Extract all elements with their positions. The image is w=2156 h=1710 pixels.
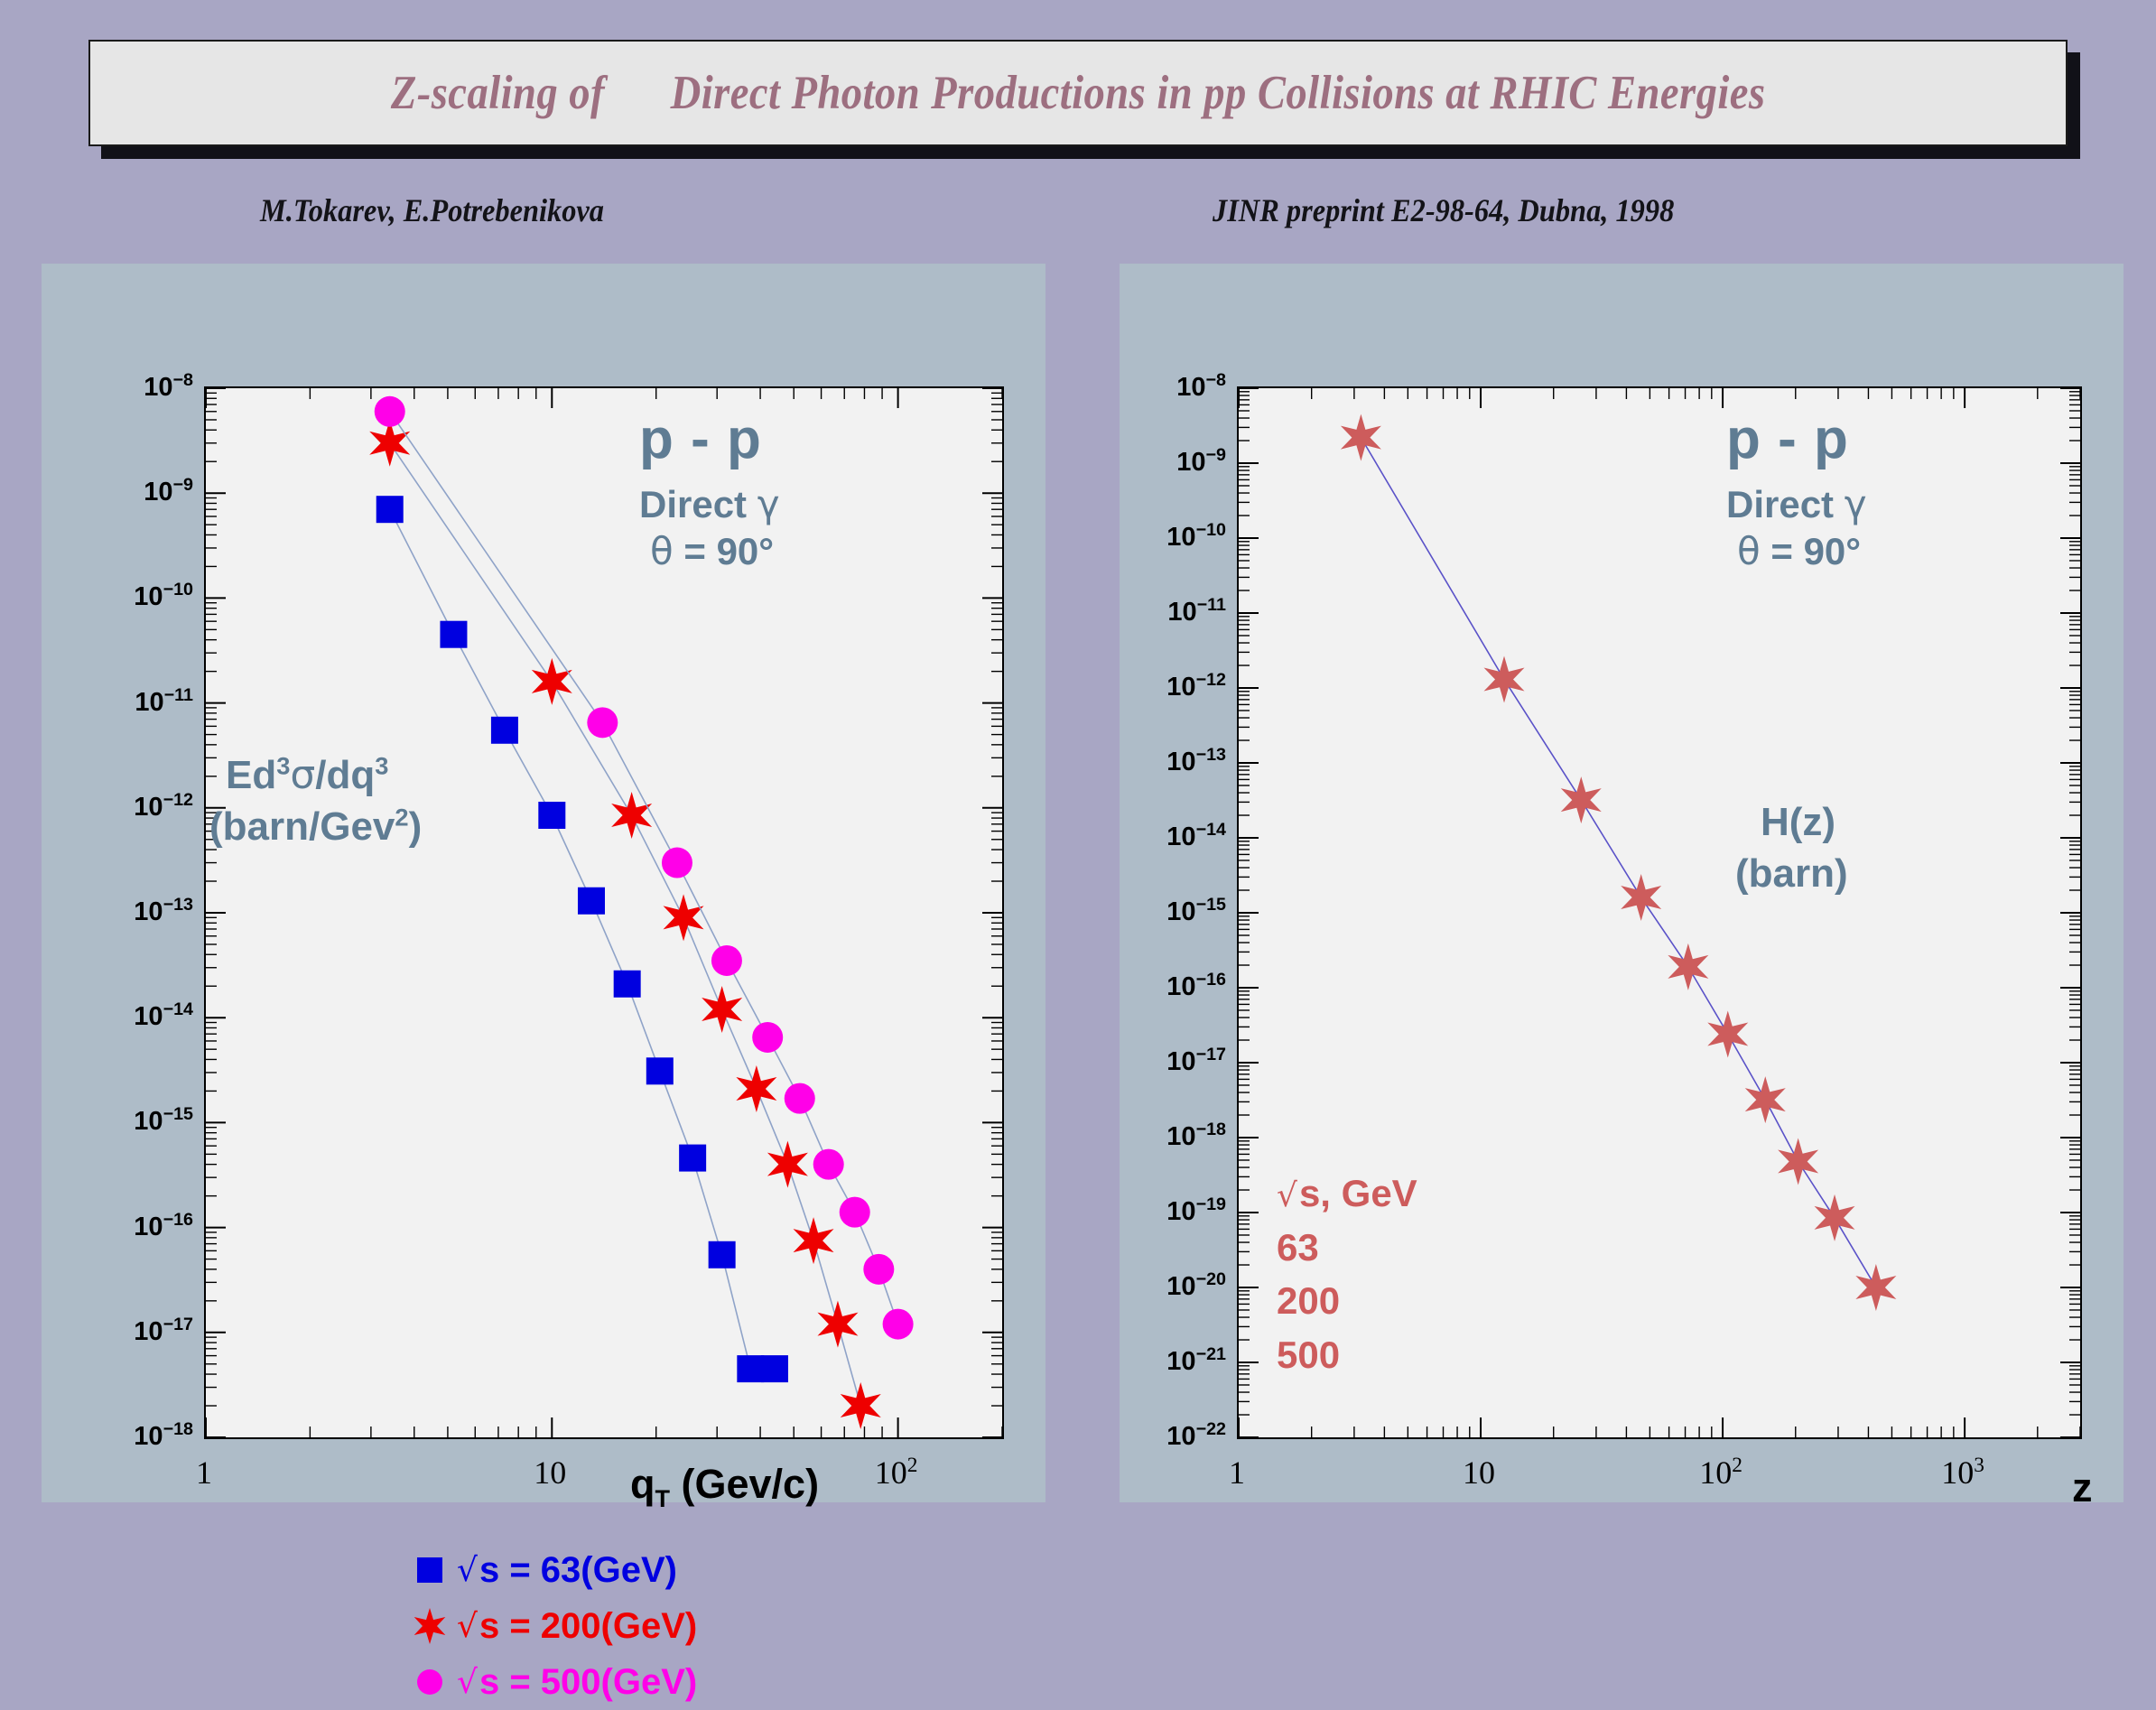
- preprint-reference: JINR preprint E2-98-64, Dubna, 1998: [1213, 191, 1674, 229]
- y-tick-label: 10−18: [1100, 1120, 1226, 1152]
- legend-label: s = 200(GeV): [479, 1606, 697, 1647]
- sqrt-symbol: √: [457, 1664, 478, 1701]
- page-title: Z-scaling of Direct Photon Productions i…: [391, 66, 1766, 120]
- right-x-axis-title: z: [2072, 1464, 2093, 1511]
- y-tick-label: 10−9: [67, 475, 193, 507]
- y-tick-label: 10−22: [1100, 1419, 1226, 1452]
- y-tick-label: 10−10: [67, 581, 193, 613]
- legend-row: √s = 200(GeV): [403, 1598, 697, 1654]
- right-angle-value: = 90°: [1761, 530, 1861, 572]
- star-glyph: [411, 1607, 449, 1645]
- xat-sub: T: [655, 1485, 671, 1512]
- sqrt-symbol: √: [1277, 1177, 1297, 1214]
- left-annotation-angle: θ = 90°: [650, 530, 774, 572]
- sqrt-symbol: √: [457, 1552, 478, 1589]
- y-tick-label: 10−14: [67, 999, 193, 1032]
- right-photon-symbol: γ: [1845, 482, 1867, 526]
- y-tick-label: 10−21: [1100, 1344, 1226, 1377]
- y-tick-label: 10−20: [1100, 1269, 1226, 1302]
- x-tick-label: 102: [875, 1454, 918, 1492]
- y-tick-label: 10−11: [67, 685, 193, 718]
- right-quantity-line2: (barn): [1735, 848, 1848, 899]
- left-angle-value: = 90°: [674, 530, 774, 572]
- x-tick-label: 102: [1699, 1454, 1742, 1492]
- q1a: Ed: [226, 753, 276, 797]
- x-tick-label: 10: [534, 1454, 566, 1492]
- right-annotation-process: Direct γ: [1726, 483, 1867, 525]
- left-annotation-process-text: Direct: [639, 483, 747, 525]
- y-tick-label: 10−8: [1100, 370, 1226, 403]
- x-tick-label: 1: [196, 1454, 212, 1492]
- q1b: /dq: [315, 753, 375, 797]
- star-marker: [403, 1607, 457, 1645]
- x-tick-label: 10: [1463, 1454, 1495, 1492]
- legend-row: √s = 63(GeV): [403, 1542, 697, 1598]
- right-plot-panel: p - p Direct γ θ = 90° H(z) (barn) √s, G…: [1120, 264, 2123, 1502]
- y-tick-label: 10−16: [67, 1210, 193, 1242]
- y-tick-label: 10−12: [1100, 670, 1226, 702]
- energy-header-text: s, GeV: [1299, 1172, 1417, 1214]
- y-tick-label: 10−12: [67, 790, 193, 822]
- y-tick-label: 10−16: [1100, 970, 1226, 1002]
- right-process-text: Direct: [1726, 483, 1834, 525]
- xat-rest: (Gev/c): [670, 1461, 819, 1507]
- energy-value-63: 63: [1277, 1221, 1417, 1275]
- sqrt-symbol: √: [457, 1608, 478, 1645]
- energy-header: √s, GeV: [1277, 1166, 1417, 1221]
- left-plot-canvas: [206, 388, 1002, 1437]
- right-annotation-angle: θ = 90°: [1737, 530, 1861, 572]
- legend-label: s = 63(GeV): [479, 1550, 677, 1591]
- q1s2: 3: [375, 751, 388, 779]
- y-tick-label: 10−18: [67, 1419, 193, 1452]
- energy-value-200: 200: [1277, 1274, 1417, 1328]
- y-tick-label: 10−13: [1100, 745, 1226, 777]
- q2b: ): [409, 804, 423, 849]
- y-tick-label: 10−13: [67, 895, 193, 927]
- y-tick-label: 10−11: [1100, 595, 1226, 627]
- y-tick-label: 10−14: [1100, 820, 1226, 852]
- y-tick-label: 10−17: [1100, 1045, 1226, 1077]
- q2s: 2: [395, 804, 408, 832]
- right-energy-list: √s, GeV 63 200 500: [1277, 1166, 1417, 1382]
- authors-line: M.Tokarev, E.Potrebenikova: [260, 191, 604, 229]
- y-tick-label: 10−15: [67, 1105, 193, 1138]
- left-quantity-label: Ed3σ/dq3 (barn/Gev2): [226, 749, 422, 852]
- y-tick-label: 10−10: [1100, 520, 1226, 553]
- legend-row: √s = 500(GeV): [403, 1654, 697, 1710]
- theta-symbol: θ: [650, 529, 674, 573]
- photon-symbol: γ: [757, 482, 780, 526]
- y-tick-label: 10−9: [1100, 445, 1226, 478]
- q2a: (barn/Gev: [209, 804, 395, 849]
- right-theta-symbol: θ: [1737, 529, 1761, 573]
- left-annotation-process: Direct γ: [639, 483, 780, 525]
- left-plot-frame: p - p Direct γ θ = 90° Ed3σ/dq3 (barn/Ge…: [204, 386, 1004, 1439]
- square-marker: [403, 1557, 457, 1583]
- y-tick-label: 10−8: [67, 370, 193, 403]
- y-tick-label: 10−15: [1100, 895, 1226, 927]
- y-tick-label: 10−19: [1100, 1194, 1226, 1227]
- legend-label: s = 500(GeV): [479, 1662, 697, 1703]
- left-quantity-line1: Ed3σ/dq3: [226, 749, 422, 801]
- x-tick-label: 1: [1229, 1454, 1245, 1492]
- left-plot-legend: √s = 63(GeV)√s = 200(GeV)√s = 500(GeV): [403, 1542, 697, 1710]
- right-annotation-system: p - p: [1726, 408, 1849, 470]
- xat-main: q: [630, 1461, 655, 1507]
- circle-glyph: [417, 1669, 442, 1695]
- right-quantity-line1: H(z): [1761, 796, 1848, 848]
- left-quantity-line2: (barn/Gev2): [209, 801, 422, 852]
- left-plot-panel: p - p Direct γ θ = 90° Ed3σ/dq3 (barn/Ge…: [42, 264, 1045, 1502]
- left-annotation-system: p - p: [639, 408, 762, 470]
- title-banner: Z-scaling of Direct Photon Productions i…: [88, 40, 2068, 146]
- right-plot-frame: p - p Direct γ θ = 90° H(z) (barn) √s, G…: [1237, 386, 2082, 1439]
- energy-value-500: 500: [1277, 1328, 1417, 1382]
- square-glyph: [417, 1557, 442, 1583]
- q1s1: 3: [276, 751, 290, 779]
- circle-marker: [403, 1669, 457, 1695]
- right-quantity-label: H(z) (barn): [1761, 796, 1848, 899]
- sigma-symbol: σ: [290, 752, 315, 798]
- y-tick-label: 10−17: [67, 1315, 193, 1347]
- left-x-axis-title: qT (Gev/c): [630, 1461, 819, 1513]
- x-tick-label: 103: [1941, 1454, 1984, 1492]
